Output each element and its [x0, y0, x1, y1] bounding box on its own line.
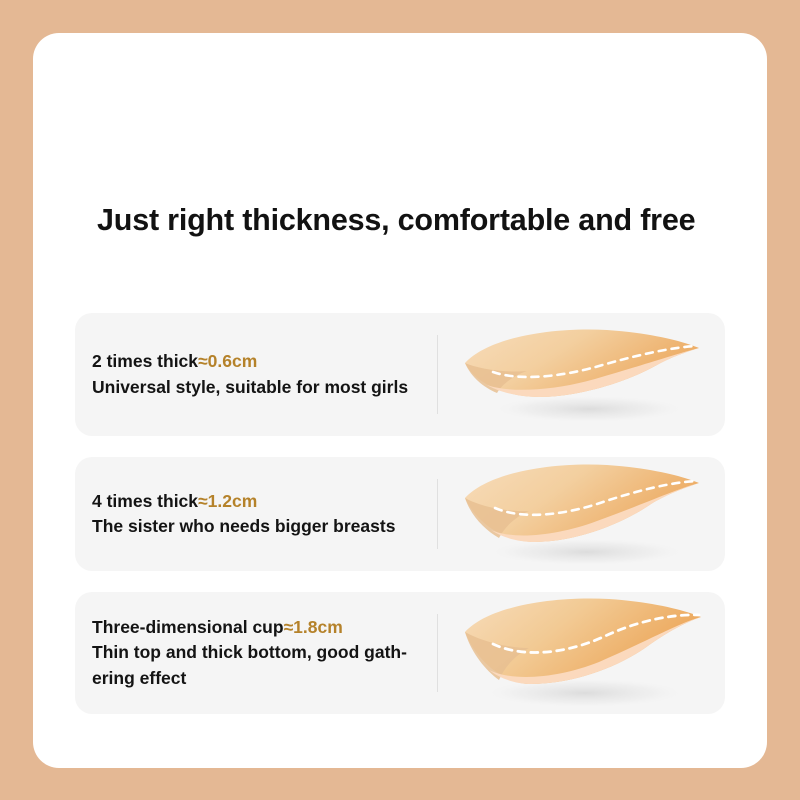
card-approx-symbol: ≈ [198, 351, 208, 371]
bra-cup-medium-icon [457, 458, 707, 570]
card-description: The sister who needs bigger breasts [92, 514, 427, 539]
card-description-line2: ering effect [92, 666, 427, 691]
card-measurement: 0.6cm [208, 351, 258, 371]
card-measurement: 1.8cm [293, 617, 343, 637]
feature-card-3d[interactable]: Three-dimensional cup≈1.8cm Thin top and… [75, 592, 725, 714]
card-label: 2 times thick [92, 351, 198, 371]
card-label: 4 times thick [92, 491, 198, 511]
card-text-block: 2 times thick≈0.6cm Universal style, sui… [75, 313, 437, 436]
card-label: Three-dimensional cup [92, 617, 284, 637]
white-content-panel: Just right thickness, comfortable and fr… [33, 33, 767, 768]
card-approx-symbol: ≈ [284, 617, 294, 637]
card-title-row: 4 times thick≈1.2cm [92, 489, 427, 514]
card-illustration-area [438, 592, 725, 714]
infographic-page: Just right thickness, comfortable and fr… [0, 0, 800, 800]
card-measurement: 1.2cm [208, 491, 258, 511]
feature-card-4x[interactable]: 4 times thick≈1.2cm The sister who needs… [75, 457, 725, 571]
feature-card-2x[interactable]: 2 times thick≈0.6cm Universal style, sui… [75, 313, 725, 436]
bra-cup-thick-icon [457, 594, 707, 712]
card-title-row: 2 times thick≈0.6cm [92, 349, 427, 374]
feature-card-list: 2 times thick≈0.6cm Universal style, sui… [75, 313, 725, 735]
card-title-row: Three-dimensional cup≈1.8cm [92, 615, 427, 640]
card-illustration-area [438, 457, 725, 571]
card-illustration-area [438, 313, 725, 436]
page-title: Just right thickness, comfortable and fr… [97, 203, 695, 238]
card-text-block: 4 times thick≈1.2cm The sister who needs… [75, 457, 437, 571]
card-description: Universal style, suitable for most girls [92, 375, 427, 400]
card-description: Thin top and thick bottom, good gath- [92, 640, 427, 665]
card-text-block: Three-dimensional cup≈1.8cm Thin top and… [75, 592, 437, 714]
card-approx-symbol: ≈ [198, 491, 208, 511]
bra-cup-thin-icon [457, 321, 707, 429]
